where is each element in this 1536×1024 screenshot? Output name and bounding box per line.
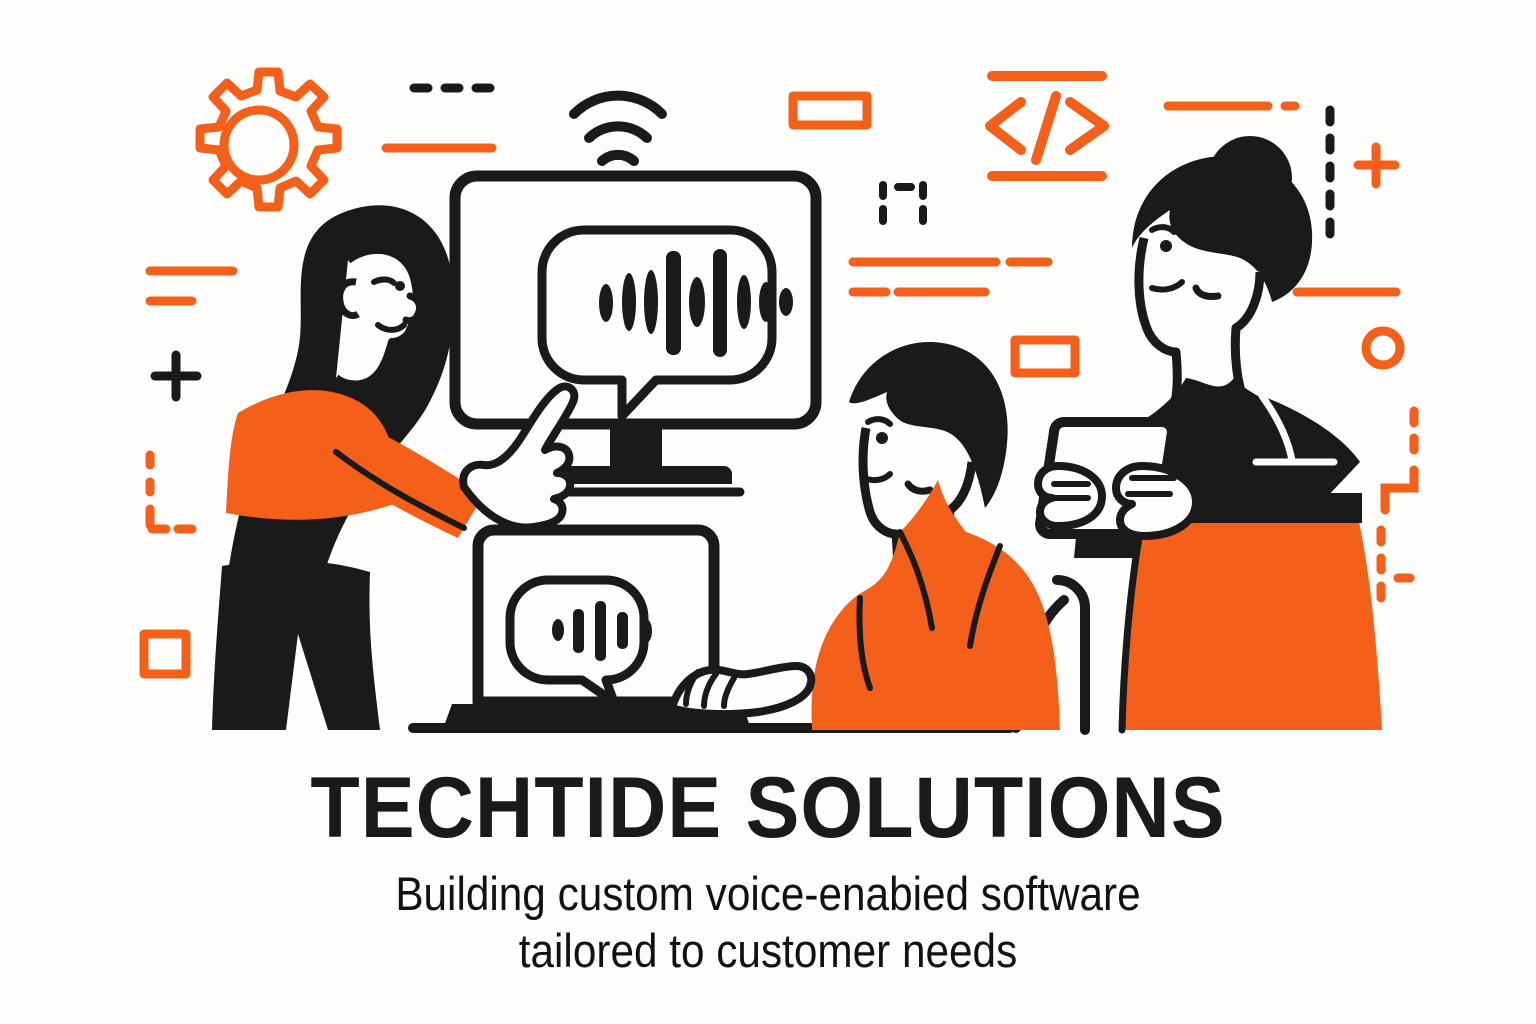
plus-icon-black: [155, 355, 197, 397]
hero-illustration: [0, 0, 1536, 770]
page-title: TECHTIDE SOLUTIONS: [46, 765, 1490, 851]
hand-right: [1116, 466, 1196, 536]
typing-hand: [672, 666, 811, 714]
accent-line-icon: [853, 262, 1048, 292]
dashed-bracket-icon: [883, 185, 923, 221]
wifi-icon: [574, 96, 662, 161]
circle-outline-icon: [1366, 331, 1400, 365]
tagline-line-2: tailored to customer needs: [77, 922, 1459, 979]
code-brackets-icon: [990, 76, 1104, 176]
hand-left: [1038, 466, 1102, 526]
corner-bracket-icon: [150, 455, 192, 529]
gear-icon: [200, 72, 337, 207]
tagline: Building custom voice-enabied software t…: [77, 865, 1459, 980]
rectangle-outline-icon: [1015, 340, 1075, 373]
illustration-svg: [0, 0, 1536, 770]
eye: [1160, 240, 1172, 252]
rectangle-outline-icon: [793, 96, 867, 125]
stepped-dashed-icon: [1381, 411, 1414, 598]
desktop-monitor: [455, 176, 816, 492]
square-outline-icon: [144, 634, 186, 674]
plus-icon-orange: [1358, 147, 1395, 184]
brand-text-block: TECHTIDE SOLUTIONS Building custom voice…: [0, 765, 1536, 980]
tagline-line-1: Building custom voice-enabied software: [77, 865, 1459, 922]
poster-canvas: TECHTIDE SOLUTIONS Building custom voice…: [0, 0, 1536, 1024]
eye: [876, 432, 888, 444]
